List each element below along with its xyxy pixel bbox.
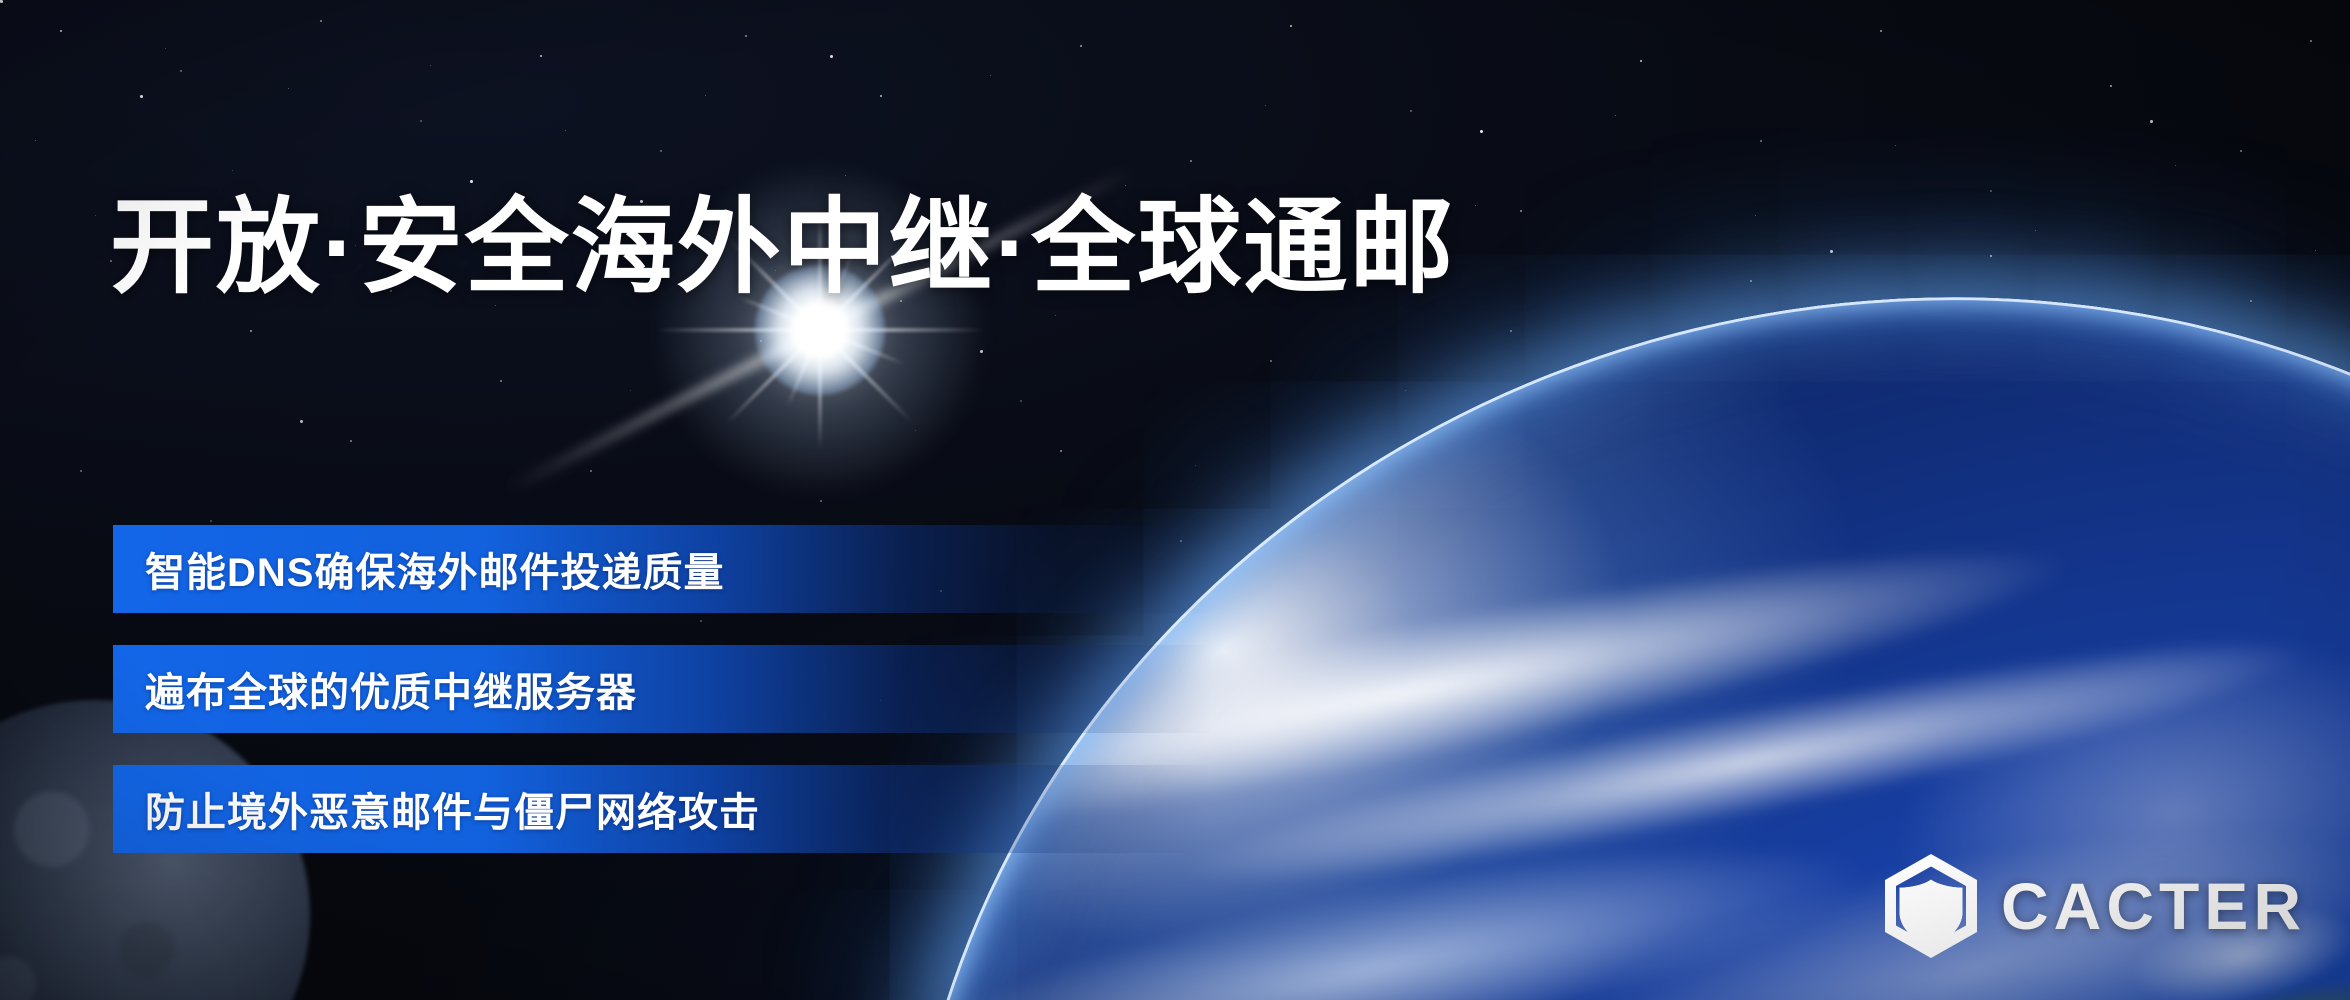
feature-bar-1: 智能DNS确保海外邮件投递质量 — [113, 525, 1213, 613]
page-title: 开放·安全海外中继·全球通邮 — [110, 192, 1455, 304]
hero-banner: 开放·安全海外中继·全球通邮 智能DNS确保海外邮件投递质量 遍布全球的优质中继… — [0, 0, 2350, 1000]
feature-list: 智能DNS确保海外邮件投递质量 遍布全球的优质中继服务器 防止境外恶意邮件与僵尸… — [113, 525, 1213, 853]
feature-bar-2: 遍布全球的优质中继服务器 — [113, 645, 1213, 733]
feature-label: 智能DNS确保海外邮件投递质量 — [113, 540, 724, 598]
feature-label: 防止境外恶意邮件与僵尸网络攻击 — [113, 780, 760, 838]
feature-label: 遍布全球的优质中继服务器 — [113, 660, 637, 718]
brand-wordmark: CACTER — [2001, 873, 2306, 939]
feature-bar-3: 防止境外恶意邮件与僵尸网络攻击 — [113, 765, 1213, 853]
hexagon-shield-icon — [1883, 854, 1979, 958]
brand-logo: CACTER — [1883, 854, 2306, 958]
